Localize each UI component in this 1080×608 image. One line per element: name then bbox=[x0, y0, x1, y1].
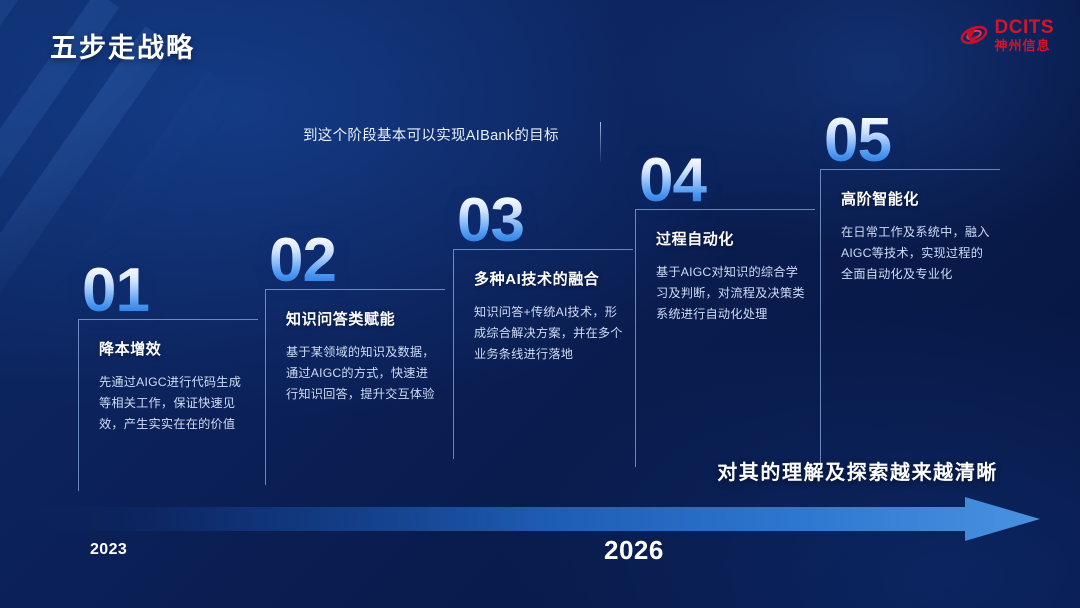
swirl-logo-icon bbox=[959, 20, 989, 50]
slide-canvas: 五步走战略 DCITS 神州信息 到这个阶段基本可以实现AIBank的目标 01… bbox=[0, 0, 1080, 608]
step-description: 知识问答+传统AI技术，形成综合解决方案，并在多个业务条线进行落地 bbox=[474, 302, 623, 365]
annotation-leader-line bbox=[600, 122, 601, 162]
logo-wordmark: DCITS 神州信息 bbox=[995, 18, 1055, 52]
step-number: 02 bbox=[269, 232, 445, 289]
brand-logo: DCITS 神州信息 bbox=[959, 18, 1055, 52]
step-description: 在日常工作及系统中，融入AIGC等技术，实现过程的全面自动化及专业化 bbox=[841, 222, 990, 285]
step-number: 04 bbox=[639, 152, 815, 209]
logo-text-en: DCITS bbox=[995, 18, 1055, 37]
step-card-body: 高阶智能化 在日常工作及系统中，融入AIGC等技术，实现过程的全面自动化及专业化 bbox=[820, 169, 1000, 469]
step-card-body: 降本增效 先通过AIGC进行代码生成等相关工作，保证快速见效，产生实实在在的价值 bbox=[78, 319, 258, 491]
step-description: 先通过AIGC进行代码生成等相关工作，保证快速见效，产生实实在在的价值 bbox=[99, 372, 248, 435]
step-number: 01 bbox=[82, 262, 258, 319]
step-card-body: 多种AI技术的融合 知识问答+传统AI技术，形成综合解决方案，并在多个业务条线进… bbox=[453, 249, 633, 459]
timeline-tagline: 对其的理解及探索越来越清晰 bbox=[717, 456, 998, 485]
step-title: 高阶智能化 bbox=[841, 188, 990, 209]
step-title: 多种AI技术的融合 bbox=[474, 268, 623, 289]
right-arrow-icon bbox=[10, 497, 1040, 541]
timeline-year-end: 2026 bbox=[604, 535, 664, 566]
logo-text-cn: 神州信息 bbox=[995, 39, 1055, 52]
step-card-body: 过程自动化 基于AIGC对知识的综合学习及判断，对流程及决策类系统进行自动化处理 bbox=[635, 209, 815, 467]
step-card-01[interactable]: 01 降本增效 先通过AIGC进行代码生成等相关工作，保证快速见效，产生实实在在… bbox=[78, 262, 258, 491]
step-title: 过程自动化 bbox=[656, 228, 805, 249]
annotation-label: 到这个阶段基本可以实现AIBank的目标 bbox=[303, 124, 559, 145]
timeline-year-start: 2023 bbox=[90, 541, 127, 559]
step-description: 基于某领域的知识及数据，通过AIGC的方式，快速进行知识回答，提升交互体验 bbox=[286, 342, 435, 405]
step-number: 05 bbox=[824, 112, 1000, 169]
step-number: 03 bbox=[457, 192, 633, 249]
page-title: 五步走战略 bbox=[50, 26, 195, 65]
step-card-02[interactable]: 02 知识问答类赋能 基于某领域的知识及数据，通过AIGC的方式，快速进行知识回… bbox=[265, 232, 445, 485]
step-card-05[interactable]: 05 高阶智能化 在日常工作及系统中，融入AIGC等技术，实现过程的全面自动化及… bbox=[820, 112, 1000, 469]
step-description: 基于AIGC对知识的综合学习及判断，对流程及决策类系统进行自动化处理 bbox=[656, 262, 805, 325]
step-card-body: 知识问答类赋能 基于某领域的知识及数据，通过AIGC的方式，快速进行知识回答，提… bbox=[265, 289, 445, 485]
step-card-03[interactable]: 03 多种AI技术的融合 知识问答+传统AI技术，形成综合解决方案，并在多个业务… bbox=[453, 192, 633, 459]
step-card-04[interactable]: 04 过程自动化 基于AIGC对知识的综合学习及判断，对流程及决策类系统进行自动… bbox=[635, 152, 815, 467]
step-title: 知识问答类赋能 bbox=[286, 308, 435, 329]
step-title: 降本增效 bbox=[99, 338, 248, 359]
